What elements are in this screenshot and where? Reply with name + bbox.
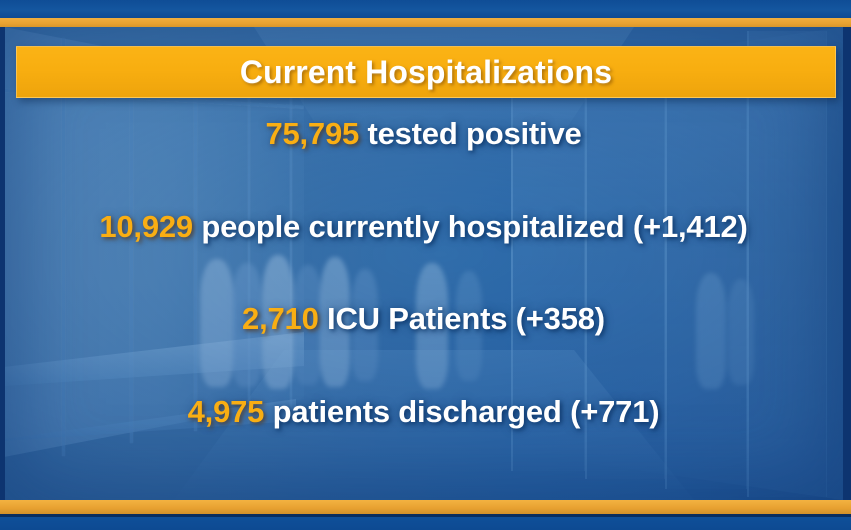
bottom-orange-stripe: [0, 500, 851, 514]
stat-number: 10,929: [99, 209, 193, 244]
bottom-blue-bar: [0, 517, 851, 530]
stat-label: ICU Patients: [319, 301, 516, 336]
stat-delta: (+771): [570, 394, 659, 429]
stats-list: 75,795 tested positive 10,929 people cur…: [4, 104, 843, 434]
stat-line: 4,975 patients discharged (+771): [188, 394, 660, 430]
broadcast-graphic-screen: Current Hospitalizations 75,795 tested p…: [0, 0, 851, 530]
stat-label: tested positive: [359, 116, 581, 151]
page-title: Current Hospitalizations: [240, 54, 612, 91]
top-blue-bar: [0, 0, 851, 18]
stat-line: 10,929 people currently hospitalized (+1…: [99, 209, 747, 245]
right-frame-border: [843, 27, 851, 500]
stat-delta: (+1,412): [633, 209, 748, 244]
left-frame-border: [0, 27, 5, 500]
stat-label: people currently hospitalized: [193, 209, 633, 244]
stat-number: 75,795: [265, 116, 359, 151]
stat-line: 2,710 ICU Patients (+358): [242, 301, 605, 337]
stat-line: 75,795 tested positive: [265, 116, 581, 152]
stat-label: patients discharged: [264, 394, 570, 429]
top-orange-stripe: [0, 18, 851, 27]
stat-number: 2,710: [242, 301, 319, 336]
stat-number: 4,975: [188, 394, 265, 429]
stat-delta: (+358): [516, 301, 605, 336]
title-bar: Current Hospitalizations: [16, 46, 836, 98]
